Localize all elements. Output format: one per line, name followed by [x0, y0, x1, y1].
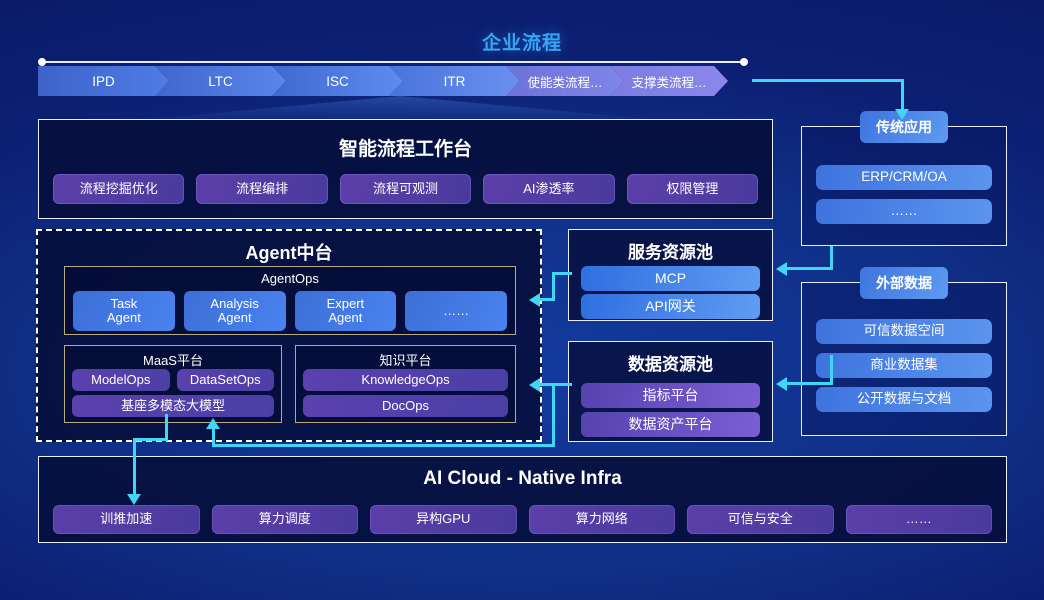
- maas-chip-row-1: ModelOps DataSetOps: [72, 369, 274, 391]
- process-step-itr[interactable]: ITR: [389, 66, 520, 96]
- knowledge-chip-row-1: KnowledgeOps: [303, 369, 508, 391]
- connector-maas-to-infra-h: [133, 438, 168, 441]
- service-pool-chip-mcp[interactable]: MCP: [581, 266, 760, 291]
- connector-process-to-apps-v: [901, 79, 904, 111]
- workbench-panel: 智能流程工作台 流程挖掘优化 流程编排 流程可观测 AI渗透率 权限管理: [38, 119, 773, 219]
- page-title: 企业流程: [0, 28, 1044, 55]
- maas-chip-foundation-model[interactable]: 基座多模态大模型: [72, 395, 274, 417]
- agent-chip-line1: Task: [111, 297, 138, 311]
- process-step-label: 使能类流程…: [527, 72, 602, 91]
- connector-data-to-agent-h1: [552, 383, 572, 386]
- agent-chip-expert[interactable]: Expert Agent: [295, 291, 397, 331]
- process-step-supporting[interactable]: 支撑类流程…: [610, 66, 728, 96]
- workbench-chip-orchestration[interactable]: 流程编排: [196, 174, 327, 204]
- process-step-label: 支撑类流程…: [631, 72, 706, 91]
- agent-chip-line2: Agent: [107, 311, 141, 325]
- infra-chip-more[interactable]: ……: [846, 505, 993, 534]
- process-step-label: LTC: [208, 74, 233, 89]
- agent-chip-task[interactable]: Task Agent: [73, 291, 175, 331]
- process-rail: [38, 58, 748, 66]
- connector-arrow-to-traditional-apps: [895, 109, 909, 120]
- agent-chip-analysis[interactable]: Analysis Agent: [184, 291, 286, 331]
- connector-data-to-agent-h2: [540, 383, 555, 386]
- external-data-tag: 外部数据: [860, 267, 948, 299]
- connector-apps-to-service-h: [787, 267, 833, 270]
- knowledge-chip-row-2: DocOps: [303, 395, 508, 417]
- infra-panel: AI Cloud - Native Infra 训推加速 算力调度 异构GPU …: [38, 456, 1007, 543]
- knowledge-chip-knowledgeops[interactable]: KnowledgeOps: [303, 369, 508, 391]
- connector-service-to-agent-v: [552, 272, 555, 301]
- connector-maas-to-infra-v2: [133, 438, 136, 496]
- agent-chip-line1: ……: [443, 304, 469, 318]
- workbench-title: 智能流程工作台: [39, 134, 772, 161]
- maas-box: MaaS平台 ModelOps DataSetOps 基座多模态大模型: [64, 345, 282, 423]
- workbench-chip-observability[interactable]: 流程可观测: [340, 174, 471, 204]
- agentops-box: AgentOps Task Agent Analysis Agent Exper…: [64, 266, 516, 335]
- process-step-enabling[interactable]: 使能类流程…: [506, 66, 624, 96]
- connector-arrow-to-data-pool: [776, 377, 787, 391]
- external-data-chip-trusted-space[interactable]: 可信数据空间: [816, 319, 992, 344]
- agent-hub-title: Agent中台: [38, 239, 540, 265]
- infra-chip-compute-scheduling[interactable]: 算力调度: [212, 505, 359, 534]
- knowledge-title: 知识平台: [296, 346, 515, 369]
- service-pool-title: 服务资源池: [569, 238, 772, 263]
- external-data-chip-public[interactable]: 公开数据与文档: [816, 387, 992, 412]
- agent-hub-panel: Agent中台 AgentOps Task Agent Analysis Age…: [36, 229, 542, 442]
- infra-title: AI Cloud - Native Infra: [39, 468, 1006, 490]
- service-pool-chip-api-gateway[interactable]: API网关: [581, 294, 760, 319]
- data-pool-panel: 数据资源池 指标平台 数据资产平台: [568, 341, 773, 442]
- agent-chip-line1: Expert: [327, 297, 365, 311]
- infra-chip-heterogeneous-gpu[interactable]: 异构GPU: [370, 505, 517, 534]
- workbench-chip-mining[interactable]: 流程挖掘优化: [53, 174, 184, 204]
- connector-service-to-agent-h1: [552, 272, 572, 275]
- maas-chip-modelops[interactable]: ModelOps: [72, 369, 170, 391]
- workbench-chip-row: 流程挖掘优化 流程编排 流程可观测 AI渗透率 权限管理: [53, 174, 758, 204]
- data-pool-chip-asset[interactable]: 数据资产平台: [581, 412, 760, 437]
- infra-chip-trust-security[interactable]: 可信与安全: [687, 505, 834, 534]
- agent-chip-line2: Agent: [328, 311, 362, 325]
- connector-arrow-to-agent-hub-service: [529, 293, 540, 307]
- knowledge-chip-docops[interactable]: DocOps: [303, 395, 508, 417]
- agent-chip-line1: Analysis: [210, 297, 258, 311]
- process-step-ipd[interactable]: IPD: [38, 66, 169, 96]
- process-chevron-row: IPD LTC ISC ITR 使能类流程… 支撑类流程…: [38, 66, 714, 96]
- connector-process-to-apps-h: [752, 79, 904, 82]
- infra-chip-training-accel[interactable]: 训推加速: [53, 505, 200, 534]
- agentops-chip-row: Task Agent Analysis Agent Expert Agent ……: [73, 291, 507, 331]
- infra-chip-row: 训推加速 算力调度 异构GPU 算力网络 可信与安全 ……: [53, 505, 992, 534]
- maas-title: MaaS平台: [65, 346, 281, 369]
- traditional-apps-panel: 传统应用 ERP/CRM/OA ……: [801, 126, 1007, 246]
- process-step-label: ITR: [444, 74, 466, 89]
- maas-chip-datasetops[interactable]: DataSetOps: [177, 369, 275, 391]
- process-step-label: IPD: [92, 74, 115, 89]
- process-step-ltc[interactable]: LTC: [155, 66, 286, 96]
- process-step-isc[interactable]: ISC: [272, 66, 403, 96]
- data-pool-chip-metrics[interactable]: 指标平台: [581, 383, 760, 408]
- workbench-chip-permissions[interactable]: 权限管理: [627, 174, 758, 204]
- connector-arrow-down-to-training-accel: [127, 494, 141, 505]
- maas-chip-row-2: 基座多模态大模型: [72, 395, 274, 417]
- traditional-apps-chip-more[interactable]: ……: [816, 199, 992, 224]
- agentops-title: AgentOps: [65, 267, 515, 286]
- rail-line: [42, 61, 744, 63]
- connector-arrow-to-service-pool: [776, 262, 787, 276]
- connector-external-to-data-v: [830, 355, 833, 385]
- connector-infra-feed-v: [212, 428, 215, 447]
- process-step-label: ISC: [326, 74, 349, 89]
- connector-data-to-agent-v: [552, 383, 555, 445]
- service-pool-panel: 服务资源池 MCP API网关: [568, 229, 773, 321]
- data-pool-title: 数据资源池: [569, 350, 772, 375]
- connector-service-to-agent-h2: [540, 298, 555, 301]
- connector-arrow-up-to-maas: [206, 418, 220, 429]
- agent-chip-line2: Agent: [218, 311, 252, 325]
- connector-arrow-to-agent-hub-data: [529, 378, 540, 392]
- agent-chip-more[interactable]: ……: [405, 291, 507, 331]
- connector-infra-feed-h: [212, 444, 555, 447]
- rail-dot-right: [740, 58, 748, 66]
- infra-chip-compute-network[interactable]: 算力网络: [529, 505, 676, 534]
- connector-external-to-data-h: [787, 382, 833, 385]
- connector-maas-to-infra-v1: [165, 414, 168, 440]
- rail-dot-left: [38, 58, 46, 66]
- workbench-chip-ai-penetration[interactable]: AI渗透率: [483, 174, 614, 204]
- traditional-apps-chip-erp[interactable]: ERP/CRM/OA: [816, 165, 992, 190]
- external-data-chip-commercial[interactable]: 商业数据集: [816, 353, 992, 378]
- knowledge-box: 知识平台 KnowledgeOps DocOps: [295, 345, 516, 423]
- diagram-canvas: 企业流程 IPD LTC ISC ITR 使能类流程… 支撑类流程… 智能流程工…: [0, 0, 1044, 600]
